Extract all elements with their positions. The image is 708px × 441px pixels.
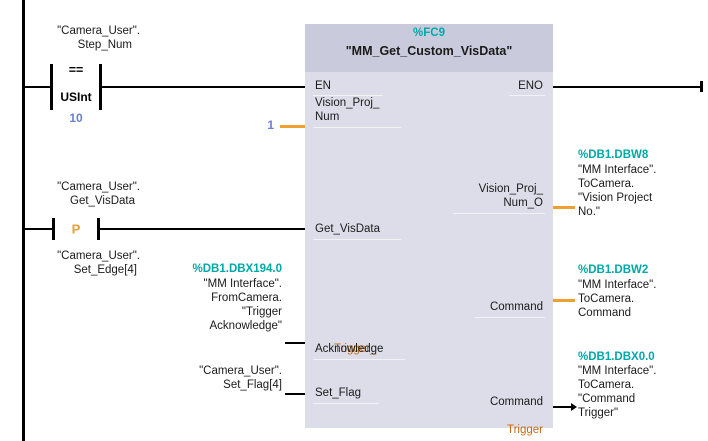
pin-command-trigger-line2[interactable]: Trigger <box>488 409 543 437</box>
ladder-network-canvas: "Camera_User". Step_Num == USInt 10 "Cam… <box>0 0 708 441</box>
command-out-line2: ToCamera. <box>578 292 706 307</box>
function-block-number: %FC9 <box>305 27 553 39</box>
pin-rule-set-flag <box>313 403 379 404</box>
rung2-edge-memory-line1: "Camera_User". <box>20 249 140 264</box>
function-block-name: "MM_Get_Custom_VisData" <box>305 44 553 58</box>
command-out-line1: "MM Interface". <box>578 278 706 293</box>
wire-command-trigger-out <box>553 406 573 408</box>
pin-vision-proj-num-o-line2[interactable]: Num_O <box>503 196 543 210</box>
wire-set-flag-in <box>285 393 307 395</box>
pin-command-trigger-line1[interactable]: Command <box>490 395 543 409</box>
wire-vision-proj-num-in <box>280 125 307 128</box>
rung1-operand-line2: Step_Num <box>20 38 132 53</box>
vision-proj-out-line2: ToCamera. <box>578 177 706 192</box>
pin-rule-vision-proj-num-o <box>453 213 545 214</box>
pin-rule-get-visdata <box>313 239 401 240</box>
trigger-ack-line2: FromCamera. <box>150 291 282 306</box>
vision-proj-out-address: %DB1.DBW8 <box>578 148 706 163</box>
pin-rule-trigger-acknowledge <box>313 359 405 360</box>
function-block-mm-get-custom-visdata[interactable]: %FC9 "MM_Get_Custom_VisData" EN Vision_P… <box>305 24 553 428</box>
trigger-ack-line3: "Trigger <box>150 305 282 320</box>
compare-operator: == <box>50 63 102 77</box>
pin-get-visdata[interactable]: Get_VisData <box>315 222 380 236</box>
command-trigger-out-line4: Trigger" <box>578 406 706 421</box>
compare-value: 10 <box>50 111 102 126</box>
function-block-header: %FC9 "MM_Get_Custom_VisData" <box>305 24 553 72</box>
rung1-wire-right <box>100 86 307 88</box>
compare-datatype: USInt <box>48 90 104 104</box>
pin-rule-eno <box>509 95 545 96</box>
pin-vision-proj-num-line1[interactable]: Vision_Proj_ <box>315 96 379 110</box>
command-trigger-out-line3: "Command <box>578 392 706 407</box>
pin-rule-vision-proj-num <box>313 127 401 128</box>
wire-command-out <box>553 299 575 302</box>
rung2-operand-line2: Get_VisData <box>20 194 135 209</box>
pin-vision-proj-num-o-line1[interactable]: Vision_Proj_ <box>479 182 543 196</box>
edge-marker-p: P <box>52 223 100 236</box>
pin-command[interactable]: Command <box>490 300 543 314</box>
pin-trigger-acknowledge-line2[interactable]: Acknowledge <box>315 342 383 356</box>
wire-vision-proj-num-o-out <box>553 206 575 209</box>
vision-proj-num-constant: 1 <box>230 118 274 133</box>
wire-command-trigger-arrow <box>571 403 577 411</box>
pin-command-trigger-line2-text: Trigger <box>507 424 543 436</box>
set-flag-line1: "Camera_User". <box>150 364 282 379</box>
power-rail <box>22 0 25 441</box>
rung2-operand-line1: "Camera_User". <box>20 180 140 195</box>
wire-trigger-ack-in <box>285 342 307 344</box>
pin-rule-command <box>475 317 545 318</box>
rung1-wire-left <box>22 86 52 88</box>
set-flag-line2: Set_Flag[4] <box>150 378 282 393</box>
command-trigger-out-line2: ToCamera. <box>578 378 706 393</box>
pin-set-flag[interactable]: Set_Flag <box>315 386 361 400</box>
trigger-ack-address: %DB1.DBX194.0 <box>150 262 282 277</box>
trigger-ack-line1: "MM Interface". <box>150 277 282 292</box>
rung2-wire-right <box>98 228 307 230</box>
command-trigger-out-line1: "MM Interface". <box>578 364 706 379</box>
rung2-edge-memory-line2: Set_Edge[4] <box>20 263 137 278</box>
vision-proj-out-line4: No." <box>578 205 706 220</box>
wire-eno-out <box>553 86 703 88</box>
pin-en[interactable]: EN <box>315 79 331 93</box>
vision-proj-out-line1: "MM Interface". <box>578 163 706 178</box>
positive-edge-contact[interactable]: P <box>52 218 100 240</box>
command-out-address: %DB1.DBW2 <box>578 263 706 278</box>
command-trigger-out-address: %DB1.DBX0.0 <box>578 350 706 365</box>
trigger-ack-line4: Acknowledge" <box>150 319 282 334</box>
rung1-operand-line1: "Camera_User". <box>20 24 140 39</box>
command-out-line3: Command <box>578 306 706 321</box>
pin-eno[interactable]: ENO <box>518 79 543 93</box>
pin-vision-proj-num-line2[interactable]: Num <box>315 110 339 124</box>
rung2-wire-left <box>22 228 54 230</box>
vision-proj-out-line3: "Vision Project <box>578 191 706 206</box>
eno-wire-endcap <box>700 81 703 92</box>
